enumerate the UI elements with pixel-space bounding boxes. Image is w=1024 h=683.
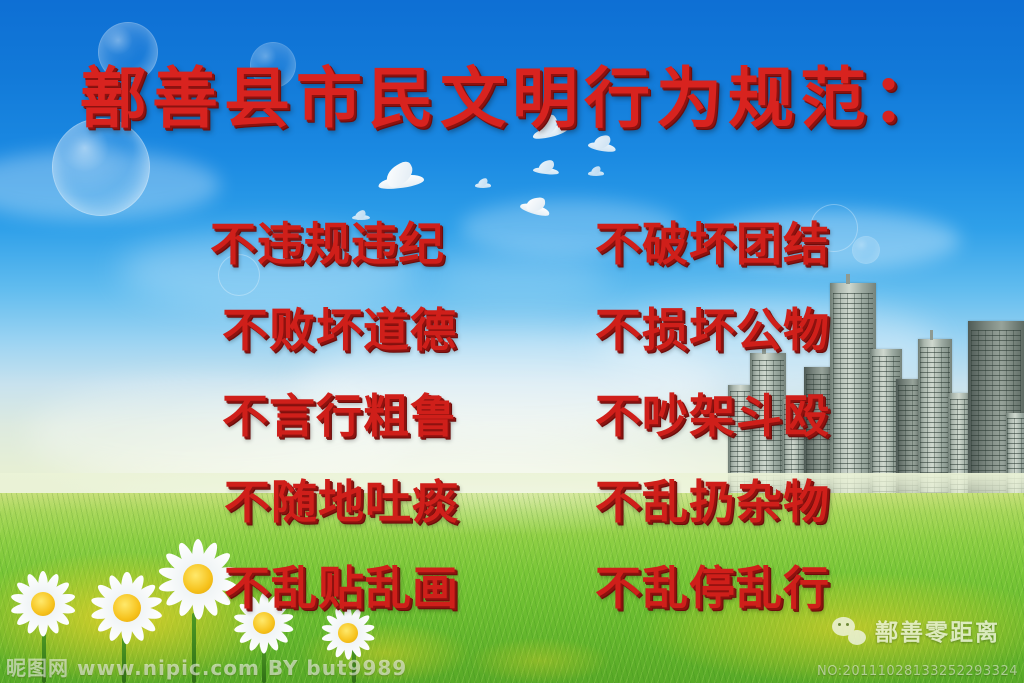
page-title: 鄯善县市民文明行为规范： [0, 66, 1024, 132]
slogan-item: 不乱贴乱画 [224, 552, 459, 618]
daisy-flower [4, 565, 82, 643]
yellow-flower-patch [470, 638, 610, 683]
slogan-item: 不损坏公物 [595, 294, 830, 360]
slogan-row: 不随地吐痰 不乱扔杂物 [196, 456, 856, 542]
slogan-item: 不违规违纪 [210, 208, 445, 274]
slogan-item: 不乱停乱行 [595, 552, 830, 618]
dove-icon [475, 180, 491, 190]
site-watermark: 昵图网 www.nipic.com BY but9989 [6, 652, 407, 681]
slogan-item: 不破坏团结 [595, 208, 830, 274]
wechat-icon [832, 615, 866, 645]
slogan-item: 不乱扔杂物 [595, 466, 830, 532]
dove-icon [532, 162, 559, 180]
slogan-row: 不败坏道德 不损坏公物 [196, 284, 856, 370]
slogan-row: 不言行粗鲁 不吵架斗殴 [196, 370, 856, 456]
slogan-row: 不违规违纪 不破坏团结 [196, 198, 856, 284]
slogan-item: 不败坏道德 [222, 294, 457, 360]
wechat-account-name: 鄯善零距离 [875, 613, 1000, 647]
image-id-watermark: NO:20111028133252293324 [817, 664, 1018, 679]
wechat-badge: 鄯善零距离 [832, 613, 1000, 647]
slogan-list: 不违规违纪 不破坏团结 不败坏道德 不损坏公物 不言行粗鲁 不吵架斗殴 不随地吐… [196, 198, 856, 628]
slogan-item: 不吵架斗殴 [595, 380, 830, 446]
slogan-item: 不随地吐痰 [224, 466, 459, 532]
slogan-item: 不言行粗鲁 [222, 380, 457, 446]
slogan-row: 不乱贴乱画 不乱停乱行 [196, 542, 856, 628]
dove-icon [588, 168, 604, 178]
poster: 鄯善县市民文明行为规范： 不违规违纪 不破坏团结 不败坏道德 不损坏公物 不言行… [0, 0, 1024, 683]
